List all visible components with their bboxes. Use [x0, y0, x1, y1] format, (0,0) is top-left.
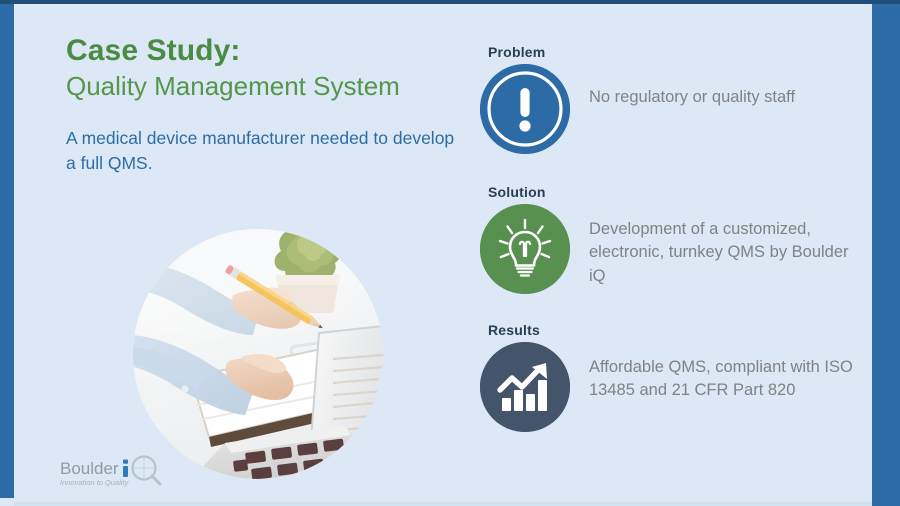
page-title: Case Study: Quality Management System	[66, 34, 486, 102]
intro-paragraph: A medical device manufacturer needed to …	[66, 126, 466, 177]
frame-bar-bottom	[14, 502, 872, 506]
section-label-problem: Problem	[488, 44, 795, 60]
logo-tagline: Innovation to Quality	[60, 478, 130, 487]
frame-bar-top	[0, 0, 900, 4]
slide-canvas: Case Study: Quality Management System A …	[0, 0, 900, 506]
section-problem: Problem No regulatory or quality staff	[480, 44, 795, 154]
section-label-results: Results	[488, 322, 861, 338]
title-sub-line: Quality Management System	[66, 71, 486, 102]
frame-bar-right	[872, 4, 900, 506]
exclamation-circle-icon	[480, 64, 570, 154]
desk-photo	[133, 229, 383, 479]
boulder-iq-logo: Boulder Innovation to Quality	[60, 455, 175, 491]
frame-bar-left	[0, 4, 14, 498]
section-text-solution: Development of a customized, electronic,…	[589, 218, 861, 288]
title-main-line: Case Study:	[66, 34, 486, 69]
growth-chart-icon	[480, 342, 570, 432]
lightbulb-icon	[480, 204, 570, 294]
logo-wordmark: Boulder	[60, 459, 119, 478]
section-results: Results Affordable QMS, compliant with I…	[480, 322, 861, 432]
section-label-solution: Solution	[488, 184, 861, 200]
section-text-problem: No regulatory or quality staff	[589, 86, 795, 109]
section-text-results: Affordable QMS, compliant with ISO 13485…	[589, 356, 861, 403]
section-solution: Solution	[480, 184, 861, 294]
